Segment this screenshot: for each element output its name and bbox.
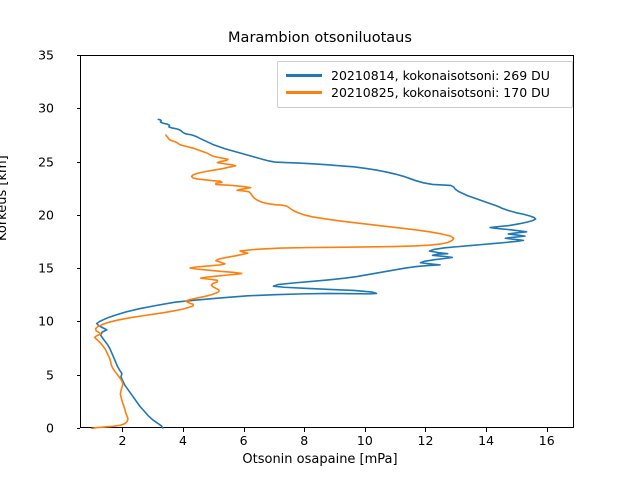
y-tick-label: 15	[14, 261, 54, 276]
x-tick-label: 16	[527, 433, 567, 448]
chart-title: Marambion otsoniluotaus	[0, 30, 640, 46]
x-tick-label: 6	[224, 433, 264, 448]
x-tick-mark	[122, 428, 123, 432]
x-tick-mark	[244, 428, 245, 432]
legend-swatch-series-1	[286, 74, 322, 76]
y-tick-mark	[77, 162, 81, 163]
y-tick-mark	[77, 55, 81, 56]
y-tick-mark	[77, 321, 81, 322]
x-tick-mark	[304, 428, 305, 432]
y-axis-label: Korkeus [km]	[0, 155, 10, 241]
x-tick-mark	[365, 428, 366, 432]
series-canvas	[81, 56, 575, 429]
y-tick-mark	[77, 428, 81, 429]
chart-legend[interactable]: 20210814, kokonaisotsoni: 269 DU 2021082…	[277, 61, 573, 108]
plot-area	[80, 55, 574, 428]
x-tick-mark	[486, 428, 487, 432]
y-tick-mark	[77, 108, 81, 109]
series-line-2	[92, 135, 454, 428]
x-tick-label: 14	[466, 433, 506, 448]
x-tick-label: 8	[284, 433, 324, 448]
x-tick-label: 4	[163, 433, 203, 448]
x-tick-label: 2	[102, 433, 142, 448]
legend-item: 20210814, kokonaisotsoni: 269 DU	[286, 67, 564, 84]
y-tick-mark	[77, 268, 81, 269]
y-tick-label: 25	[14, 154, 54, 169]
y-tick-label: 0	[14, 421, 54, 436]
chart-figure: Marambion otsoniluotaus 05101520253035 2…	[0, 0, 640, 480]
y-tick-label: 30	[14, 101, 54, 116]
y-tick-mark	[77, 375, 81, 376]
x-tick-mark	[425, 428, 426, 432]
y-tick-mark	[77, 215, 81, 216]
x-axis-label: Otsonin osapaine [mPa]	[0, 452, 640, 467]
legend-item: 20210825, kokonaisotsoni: 170 DU	[286, 84, 564, 101]
y-tick-label: 10	[14, 314, 54, 329]
x-tick-label: 10	[345, 433, 385, 448]
y-tick-label: 35	[14, 48, 54, 63]
y-tick-label: 20	[14, 207, 54, 222]
legend-label-series-2: 20210825, kokonaisotsoni: 170 DU	[331, 85, 550, 100]
y-tick-label: 5	[14, 367, 54, 382]
legend-label-series-1: 20210814, kokonaisotsoni: 269 DU	[331, 68, 550, 83]
x-tick-label: 12	[405, 433, 445, 448]
legend-swatch-series-2	[286, 91, 322, 93]
series-line-1	[97, 119, 536, 428]
x-tick-mark	[547, 428, 548, 432]
x-tick-mark	[183, 428, 184, 432]
